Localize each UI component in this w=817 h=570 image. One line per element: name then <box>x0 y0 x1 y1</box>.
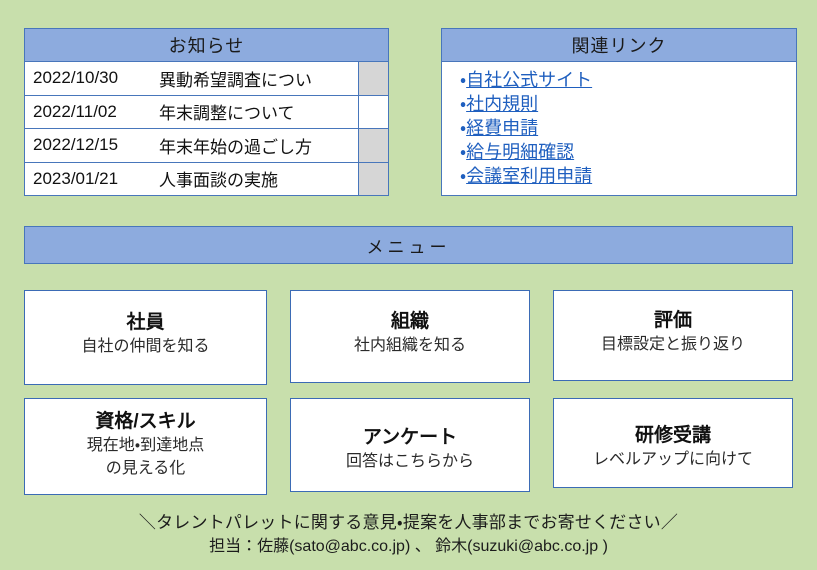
menu-card-text: 評価 目標設定と振り返り <box>601 309 745 356</box>
news-row-date: 2022/11/02 <box>33 102 159 122</box>
intranet-portal-page: お知らせ 2022/10/30 異動希望調査につい 2022/11/02 年末調… <box>0 0 817 570</box>
news-row-title: 年末年始の過ごし方 <box>159 133 312 158</box>
related-link-item[interactable]: ・給与明細確認 <box>460 140 796 164</box>
menu-card-subtitle: レベルアップに向けて <box>593 449 753 471</box>
menu-card-title: 評価 <box>601 309 745 333</box>
menu-card-subtitle-line2: の見える化 <box>87 458 204 480</box>
related-link-item[interactable]: ・会議室利用申請 <box>460 164 796 188</box>
menu-card-text: 資格/スキル 現在地・到達地点 の見える化 <box>87 410 204 480</box>
news-row-date: 2022/12/15 <box>33 135 159 155</box>
scrollbar-thumb[interactable] <box>359 96 388 130</box>
menu-card-title: 研修受講 <box>593 424 753 448</box>
menu-card-text: 組織 社内組織を知る <box>354 310 466 357</box>
menu-section-header: メニュー <box>24 226 793 264</box>
menu-card-survey[interactable]: アンケート 回答はこちらから <box>290 398 530 492</box>
news-row[interactable]: 2022/10/30 異動希望調査につい <box>25 62 358 96</box>
related-link-item[interactable]: ・経費申請 <box>460 116 796 140</box>
menu-card-text: 研修受講 レベルアップに向けて <box>593 424 753 471</box>
related-links-list: ・自社公式サイト ・社内規則 ・経費申請 ・給与明細確認 ・会議室利用申請 <box>442 62 796 188</box>
footer-line-1: ＼タレントパレットに関する意見・提案を人事部までお寄せください／ <box>0 510 817 535</box>
related-link-label: 経費申請 <box>466 118 538 138</box>
news-row-date: 2023/01/21 <box>33 169 159 189</box>
news-row-title: 人事面談の実施 <box>159 166 278 191</box>
menu-card-title: アンケート <box>346 426 474 450</box>
menu-card-employee[interactable]: 社員 自社の仲間を知る <box>24 290 267 385</box>
menu-card-organization[interactable]: 組織 社内組織を知る <box>290 290 530 383</box>
news-list-body: 2022/10/30 異動希望調査につい 2022/11/02 年末調整について… <box>25 62 388 195</box>
menu-card-subtitle: 回答はこちらから <box>346 451 474 473</box>
news-row-title: 年末調整について <box>159 99 295 124</box>
related-link-item[interactable]: ・自社公式サイト <box>460 68 796 92</box>
scrollbar-track-segment[interactable] <box>359 62 388 96</box>
menu-card-title: 組織 <box>354 310 466 334</box>
footer-line-2: 担当：佐藤(sato@abc.co.jp) 、 鈴木(suzuki@abc.co… <box>0 535 817 559</box>
news-row-date: 2022/10/30 <box>33 68 159 88</box>
news-row[interactable]: 2022/12/15 年末年始の過ごし方 <box>25 129 358 163</box>
menu-card-title: 社員 <box>81 311 209 335</box>
menu-card-subtitle: 現在地・到達地点 <box>87 435 204 457</box>
menu-card-subtitle: 自社の仲間を知る <box>81 336 209 358</box>
related-link-label: 会議室利用申請 <box>466 166 592 186</box>
related-links-panel: 関連リンク ・自社公式サイト ・社内規則 ・経費申請 ・給与明細確認 ・会議室利… <box>441 28 797 196</box>
menu-card-subtitle: 目標設定と振り返り <box>601 334 745 356</box>
news-row-title: 異動希望調査につい <box>159 66 312 91</box>
menu-card-skills[interactable]: 資格/スキル 現在地・到達地点 の見える化 <box>24 398 267 495</box>
news-panel-title: お知らせ <box>25 29 388 62</box>
scrollbar-track-segment[interactable] <box>359 129 388 163</box>
news-row[interactable]: 2023/01/21 人事面談の実施 <box>25 163 358 196</box>
related-link-label: 給与明細確認 <box>466 142 574 162</box>
menu-card-training[interactable]: 研修受講 レベルアップに向けて <box>553 398 793 488</box>
footer-note: ＼タレントパレットに関する意見・提案を人事部までお寄せください／ 担当：佐藤(s… <box>0 510 817 559</box>
related-link-label: 社内規則 <box>466 94 538 114</box>
related-links-title: 関連リンク <box>442 29 796 62</box>
news-panel: お知らせ 2022/10/30 異動希望調査につい 2022/11/02 年末調… <box>24 28 389 196</box>
menu-card-text: 社員 自社の仲間を知る <box>81 311 209 358</box>
menu-card-subtitle: 社内組織を知る <box>354 335 466 357</box>
related-link-label: 自社公式サイト <box>466 70 592 90</box>
menu-card-text: アンケート 回答はこちらから <box>346 426 474 473</box>
news-list: 2022/10/30 異動希望調査につい 2022/11/02 年末調整について… <box>25 62 358 195</box>
menu-card-title: 資格/スキル <box>87 410 204 434</box>
news-row[interactable]: 2022/11/02 年末調整について <box>25 96 358 130</box>
related-link-item[interactable]: ・社内規則 <box>460 92 796 116</box>
news-scrollbar[interactable] <box>358 62 388 195</box>
scrollbar-track-segment[interactable] <box>359 163 388 196</box>
menu-card-evaluation[interactable]: 評価 目標設定と振り返り <box>553 290 793 381</box>
